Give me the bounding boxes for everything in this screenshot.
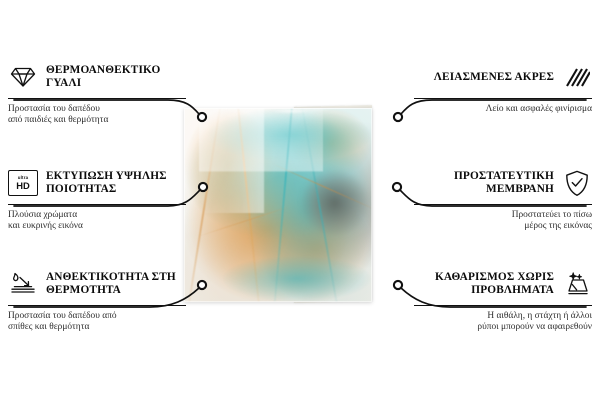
ultra-hd-big-label: HD (16, 181, 30, 191)
feature-title: ΘΕΡΜΟΑΝΘΕΚΤΙΚΟ ΓΥΑΛΙ (46, 64, 184, 89)
feature-body: Προστασία του δαπέδου από παιδιές και θε… (8, 104, 184, 127)
product-image (176, 100, 426, 310)
feature-body: Πλούσια χρώματα και ευκρινής εικόνα (8, 210, 184, 233)
feature-divider (414, 98, 592, 99)
feature-divider (8, 305, 186, 306)
feature-body-line: σπίθες και θερμότητα (8, 322, 184, 333)
feature-heat-resistant-glass: ΘΕΡΜΟΑΝΘΕΚΤΙΚΟ ΓΥΑΛΙ Προστασία του δαπέδ… (8, 60, 184, 127)
feature-header: ΘΕΡΜΟΑΝΘΕΚΤΙΚΟ ΓΥΑΛΙ (8, 60, 184, 94)
feature-title: ΛΕΙΑΣΜΕΝΕΣ ΑΚΡΕΣ (434, 71, 554, 84)
feature-body: Λείο και ασφαλές φινίρισμα (416, 104, 592, 115)
feature-body-line: ρύποι μπορούν να αφαιρεθούν (416, 322, 592, 333)
feature-polished-edges: ΛΕΙΑΣΜΕΝΕΣ ΑΚΡΕΣ Λείο και ασφαλές φινίρι… (416, 60, 592, 115)
feature-title: ΕΚΤΥΠΩΣΗ ΥΨΗΛΗΣ ΠΟΙΟΤΗΤΑΣ (46, 170, 184, 195)
feature-divider (8, 204, 186, 205)
feature-title: ΑΝΘΕΚΤΙΚΟΤΗΤΑ ΣΤΗ ΘΕΡΜΟΤΗΤΑ (46, 271, 184, 296)
feature-body-line: μέρος της εικόνας (416, 221, 592, 232)
feature-header: ΑΝΘΕΚΤΙΚΟΤΗΤΑ ΣΤΗ ΘΕΡΜΟΤΗΤΑ (8, 267, 184, 301)
feature-body-line: από παιδιές και θερμότητα (8, 115, 184, 126)
feature-protective-membrane: ΠΡΟΣΤΑΤΕΥΤΙΚΗ ΜΕΜΒΡΑΝΗ Προστατεύει το πί… (416, 166, 592, 233)
feature-body-line: και ευκρινής εικόνα (8, 221, 184, 232)
diamond-icon (8, 62, 38, 92)
feature-body: Προστασία του δαπέδου από σπίθες και θερ… (8, 311, 184, 334)
feature-body-line: Λείο και ασφαλές φινίρισμα (416, 104, 592, 115)
feature-header: ultra HD ΕΚΤΥΠΩΣΗ ΥΨΗΛΗΣ ΠΟΙΟΤΗΤΑΣ (8, 166, 184, 200)
feature-easy-cleaning: ΚΑΘΑΡΙΣΜΟΣ ΧΩΡΙΣ ΠΡΟΒΛΗΜΑΤΑ Η αιθάλη, η … (416, 267, 592, 334)
infographic-canvas: ΘΕΡΜΟΑΝΘΕΚΤΙΚΟ ΓΥΑΛΙ Προστασία του δαπέδ… (0, 0, 600, 400)
feature-body-line: Πλούσια χρώματα (8, 210, 184, 221)
feature-header: ΚΑΘΑΡΙΣΜΟΣ ΧΩΡΙΣ ΠΡΟΒΛΗΜΑΤΑ (416, 267, 592, 301)
feature-heat-durability: ΑΝΘΕΚΤΙΚΟΤΗΤΑ ΣΤΗ ΘΕΡΜΟΤΗΤΑ Προστασία το… (8, 267, 184, 334)
glass-edge (184, 108, 372, 302)
sponge-sparkle-icon (562, 269, 592, 299)
feature-body: Προστατεύει το πίσω μέρος της εικόνας (416, 210, 592, 233)
feature-body: Η αιθάλη, η στάχτη ή άλλοι ρύποι μπορούν… (416, 311, 592, 334)
flame-resistance-icon (8, 269, 38, 299)
feature-body-line: Προστασία του δαπέδου (8, 104, 184, 115)
feature-divider (414, 204, 592, 205)
feature-divider (8, 98, 186, 99)
feature-title: ΚΑΘΑΡΙΣΜΟΣ ΧΩΡΙΣ ΠΡΟΒΛΗΜΑΤΑ (416, 271, 554, 296)
product-front-panel (184, 108, 372, 302)
feature-body-line: Η αιθάλη, η στάχτη ή άλλοι (416, 311, 592, 322)
feature-header: ΛΕΙΑΣΜΕΝΕΣ ΑΚΡΕΣ (416, 60, 592, 94)
polished-edges-icon (562, 62, 592, 92)
feature-divider (414, 305, 592, 306)
feature-title: ΠΡΟΣΤΑΤΕΥΤΙΚΗ ΜΕΜΒΡΑΝΗ (416, 170, 554, 195)
top-glint (267, 110, 316, 115)
feature-body-line: Προστατεύει το πίσω (416, 210, 592, 221)
ultra-hd-icon: ultra HD (8, 168, 38, 198)
shield-check-icon (562, 168, 592, 198)
feature-header: ΠΡΟΣΤΑΤΕΥΤΙΚΗ ΜΕΜΒΡΑΝΗ (416, 166, 592, 200)
feature-body-line: Προστασία του δαπέδου από (8, 311, 184, 322)
feature-high-quality-print: ultra HD ΕΚΤΥΠΩΣΗ ΥΨΗΛΗΣ ΠΟΙΟΤΗΤΑΣ Πλούσ… (8, 166, 184, 233)
